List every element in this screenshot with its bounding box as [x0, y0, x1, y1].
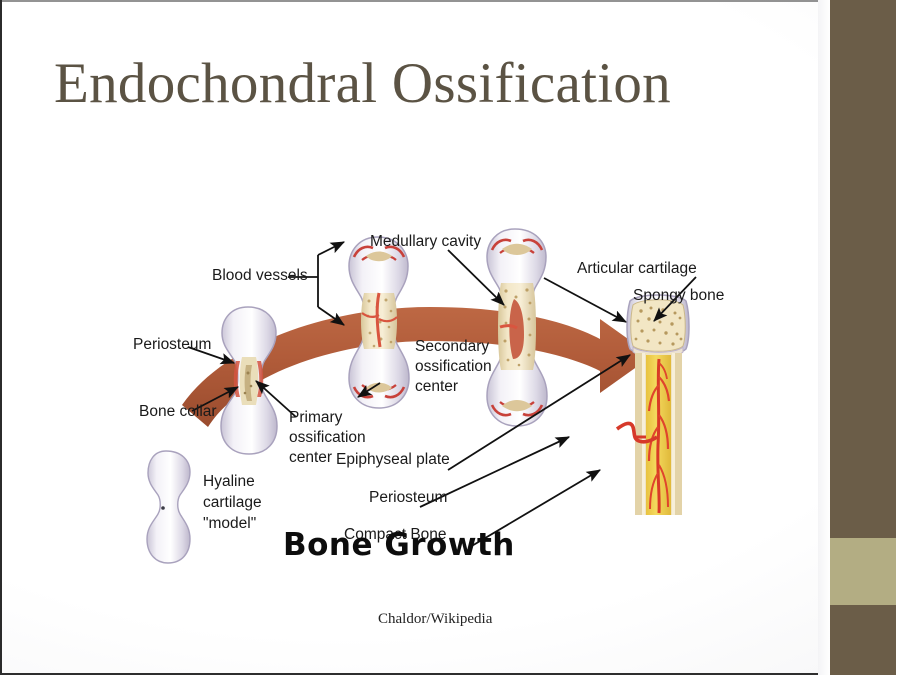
slide: Endochondral Ossification — [0, 0, 900, 675]
label-periosteum-left: Periosteum — [133, 336, 211, 354]
label-medullary-cavity: Medullary cavity — [370, 233, 481, 251]
label-periosteum-right: Periosteum — [369, 489, 447, 507]
label-primary-ossification-line2: ossification — [289, 429, 366, 447]
figure-caption: Bone Growth — [283, 527, 515, 563]
page-title: Endochondral Ossification — [54, 54, 814, 114]
label-hyaline-line1: Hyaline — [203, 473, 255, 491]
label-hyaline-line2: cartilage — [203, 494, 262, 512]
label-hyaline-line3: "model" — [203, 515, 256, 533]
image-credit: Chaldor/Wikipedia — [378, 611, 492, 628]
label-blood-vessels: Blood vessels — [212, 267, 308, 285]
label-secondary-ossification-line3: center — [415, 378, 458, 396]
stage-hyaline-model — [147, 451, 190, 563]
slide-right-edge — [896, 0, 900, 675]
label-spongy-bone: Spongy bone — [633, 287, 724, 305]
label-primary-ossification-line1: Primary — [289, 409, 342, 427]
label-secondary-ossification-line1: Secondary — [415, 338, 489, 356]
label-bone-collar: Bone collar — [139, 403, 217, 421]
label-articular-cartilage: Articular cartilage — [577, 260, 697, 278]
arrow-blood-vessels-top — [318, 242, 344, 255]
label-secondary-ossification-line2: ossification — [415, 358, 492, 376]
sidebar-gap — [818, 0, 830, 675]
label-primary-ossification-line3: center — [289, 449, 332, 467]
slide-top-edge — [0, 0, 900, 2]
stage-adult-bone — [617, 295, 689, 515]
sidebar-accent-block — [830, 538, 896, 605]
slide-left-edge — [0, 0, 2, 675]
endochondral-ossification-diagram: Blood vessels Medullary cavity Articular… — [130, 215, 730, 635]
label-epiphyseal-plate: Epiphyseal plate — [336, 451, 450, 469]
arrow-articular-cartilage — [544, 278, 626, 322]
